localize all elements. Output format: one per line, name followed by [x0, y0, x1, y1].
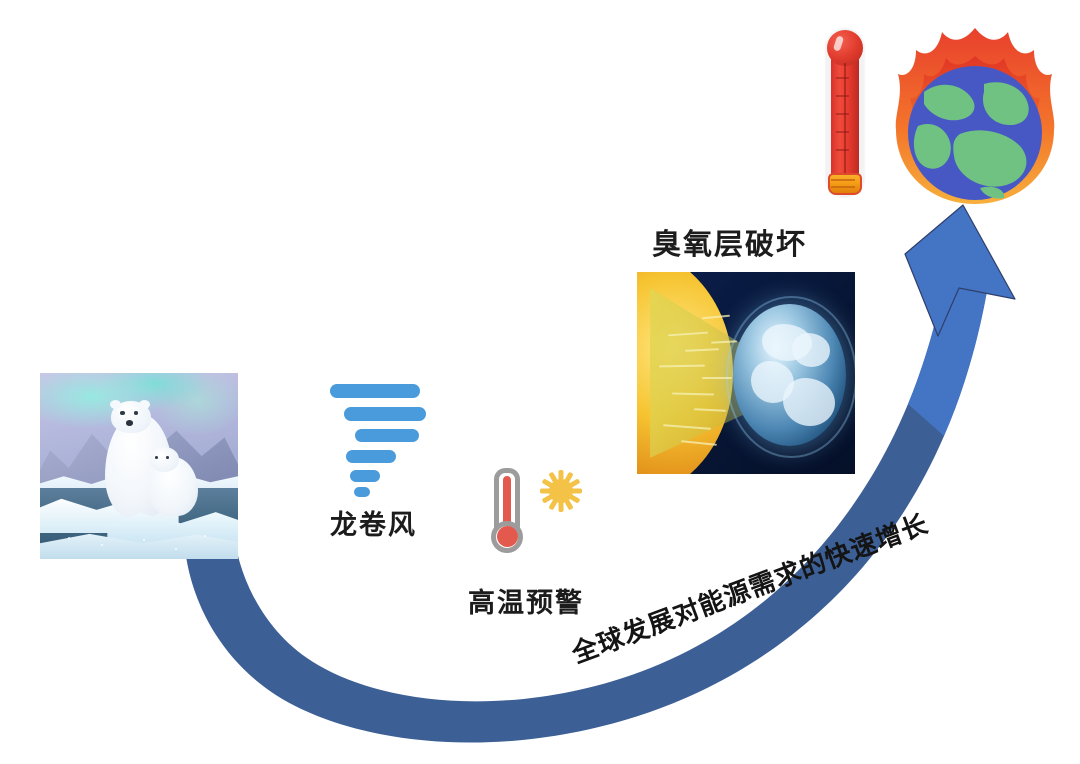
- heat-warning-label: 高温预警: [468, 581, 584, 620]
- ozone-label: 臭氧层破坏: [652, 221, 807, 263]
- thermometer-tick: [836, 149, 849, 151]
- snow-sparkle: [175, 548, 177, 550]
- snow-sparkle: [143, 539, 145, 541]
- thermometer-icon: [826, 29, 864, 197]
- tornado-bar-6: [354, 487, 370, 497]
- polar-bear-cub-eye-right: [166, 456, 170, 459]
- tornado-bar-1: [330, 384, 420, 398]
- sun-icon: [540, 470, 582, 512]
- infographic-canvas: 龙卷风 高温预警 臭氧层破坏: [0, 0, 1080, 764]
- polar-bear-photo: [40, 373, 238, 559]
- polar-bear-cub-head: [149, 447, 179, 471]
- tornado-bar-2: [344, 407, 426, 421]
- thermometer-top-bulb: [827, 30, 863, 66]
- tornado-bar-5: [350, 470, 380, 482]
- thermometer-base: [828, 173, 862, 195]
- thermometer-tick: [836, 95, 849, 97]
- thermometer-tick: [836, 77, 849, 79]
- thermometer-base-line: [831, 179, 855, 181]
- tornado-icon: [330, 384, 426, 494]
- tornado-bar-3: [355, 429, 419, 442]
- tornado-label: 龙卷风: [330, 503, 417, 542]
- thermometer-mercury-bulb: [497, 526, 518, 547]
- atmosphere-halo: [726, 296, 855, 458]
- burning-earth-icon: [884, 22, 1066, 208]
- ozone-depletion-photo: [637, 272, 855, 474]
- polar-bear-cub-eye-left: [155, 456, 159, 459]
- thermometer-base-line: [831, 186, 855, 188]
- thermometer-tick: [836, 131, 849, 133]
- tornado-bar-4: [346, 450, 396, 463]
- polar-bear-ear-right: [139, 400, 150, 409]
- uv-ray: [702, 377, 732, 379]
- snow-sparkle: [68, 537, 70, 539]
- thermometer-sun-icon: [484, 466, 596, 560]
- polar-bear-eye-left: [120, 411, 124, 415]
- thermometer-spine: [844, 63, 846, 175]
- thermometer-tick: [836, 113, 849, 115]
